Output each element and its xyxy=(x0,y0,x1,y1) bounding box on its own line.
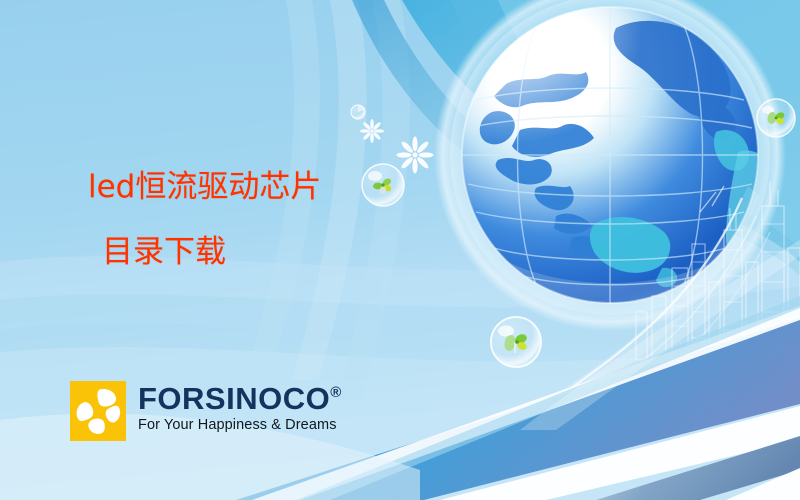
page-title: led恒流驱动芯片 目录下载 xyxy=(88,166,321,273)
brand-name: FORSINOCO xyxy=(138,383,330,415)
starburst-flower-small xyxy=(360,119,384,143)
brand-name-row: FORSINOCO ® xyxy=(138,383,342,415)
page-title-line-2: 目录下载 xyxy=(88,231,321,273)
pinwheel-flower-icon xyxy=(70,381,126,441)
bubble-pinwheel-left xyxy=(362,164,404,206)
bubble-pinwheel-topright xyxy=(757,99,795,137)
starburst-flower-large xyxy=(397,137,434,174)
brand-tagline: For Your Happiness & Dreams xyxy=(138,417,342,434)
banner-canvas: led恒流驱动芯片 目录下载 FORSINOCO ® For Your Happ… xyxy=(0,0,800,500)
registered-trademark-icon: ® xyxy=(330,385,342,400)
bubble-pinwheel-center xyxy=(491,317,541,367)
page-title-line-1: led恒流驱动芯片 xyxy=(88,169,321,205)
bubble-small-top xyxy=(351,105,365,119)
brand-logo[interactable]: FORSINOCO ® For Your Happiness & Dreams xyxy=(70,381,342,441)
brand-wordmark: FORSINOCO ® For Your Happiness & Dreams xyxy=(138,381,342,434)
